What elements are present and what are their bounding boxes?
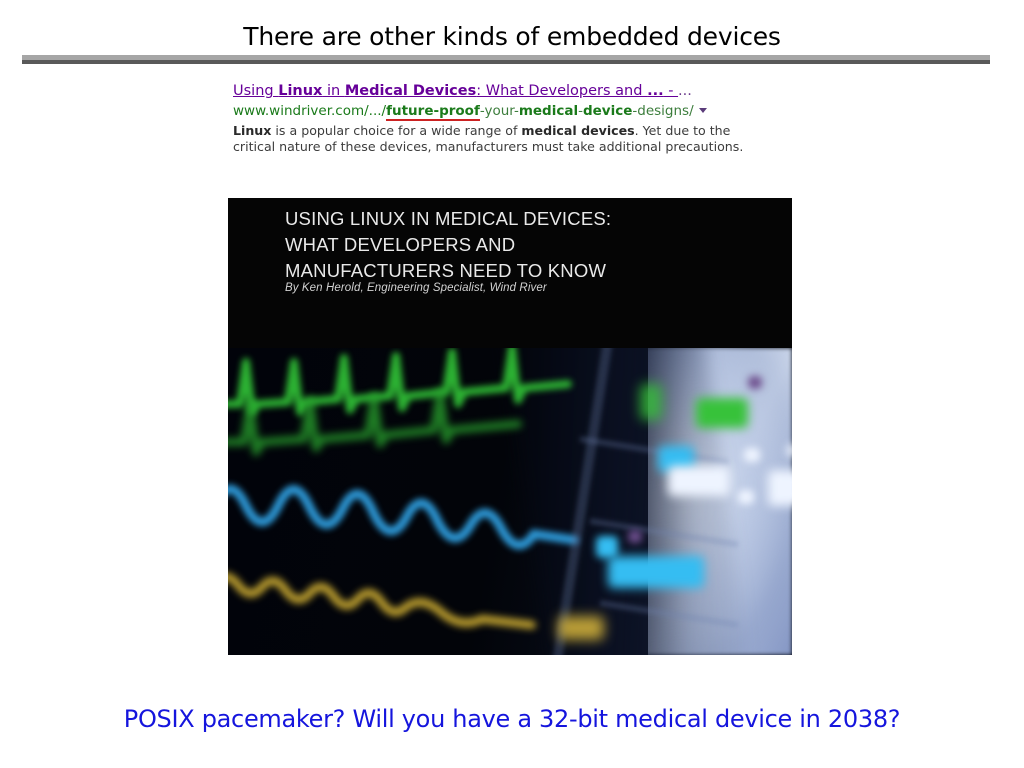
title-divider: [22, 55, 990, 64]
search-result-snippet: Linux is a popular choice for a wide ran…: [233, 123, 745, 155]
search-result-link[interactable]: Using Linux in Medical Devices: What Dev…: [233, 83, 678, 99]
whitepaper-title: USING LINUX IN MEDICAL DEVICES: WHAT DEV…: [285, 206, 765, 284]
readout-dot-3: [786, 444, 792, 457]
whitepaper-title-line-2: WHAT DEVELOPERS AND: [285, 232, 765, 258]
url-keyword-future-proof: future-proof: [386, 103, 480, 121]
readout-dot-1: [744, 448, 760, 462]
readout-nibp-value: [768, 470, 792, 506]
search-result-url[interactable]: www.windriver.com/.../future-proof-your-…: [233, 102, 753, 121]
whitepaper-byline: By Ken Herold, Engineering Specialist, W…: [285, 282, 547, 294]
chevron-down-icon[interactable]: [699, 108, 707, 113]
page-title: There are other kinds of embedded device…: [0, 22, 1024, 51]
whitepaper-image: USING LINUX IN MEDICAL DEVICES: WHAT DEV…: [228, 198, 792, 655]
title-trailing-ellipsis: ...: [678, 83, 692, 99]
slide-caption: POSIX pacemaker? Will you have a 32-bit …: [0, 705, 1024, 733]
title-segment-1: Using: [233, 83, 278, 99]
readout-hr-label: [640, 384, 662, 420]
title-segment-3: : What Developers and: [476, 83, 647, 99]
readout-dot-4: [628, 530, 642, 543]
medical-monitor-photo: [228, 348, 792, 655]
title-keyword-medical-devices: Medical Devices: [345, 83, 476, 99]
snippet-keyword-medical-devices: medical devices: [521, 123, 634, 138]
whitepaper-title-line-3: MANUFACTURERS NEED TO KNOW: [285, 258, 765, 284]
readout-resp-value: [608, 556, 704, 588]
title-keyword-linux: Linux: [278, 83, 322, 99]
divider-bottom-band: [22, 60, 990, 64]
readout-alarm-dot: [748, 376, 762, 389]
readout-heart-rate: [696, 398, 748, 428]
readout-dot-2: [738, 490, 754, 504]
title-segment-2: in: [322, 83, 344, 99]
url-keyword-device: device: [583, 103, 632, 119]
snippet-segment-1: is a popular choice for a wide range of: [271, 123, 521, 138]
url-segment-designs: -designs/: [632, 103, 693, 119]
title-ellipsis: ...: [647, 83, 664, 99]
url-segment-your: -your-: [480, 103, 519, 119]
title-dash: -: [664, 83, 678, 99]
url-keyword-medical: medical: [519, 103, 578, 119]
search-result-title[interactable]: Using Linux in Medical Devices: What Dev…: [233, 82, 753, 101]
whitepaper-title-line-1: USING LINUX IN MEDICAL DEVICES:: [285, 206, 765, 232]
abp-yellow-trace: [228, 563, 612, 653]
search-result: Using Linux in Medical Devices: What Dev…: [233, 82, 753, 155]
url-host: www.windriver.com/.../: [233, 103, 386, 119]
readout-resp-label: [596, 536, 618, 558]
readout-spo2-value: [668, 466, 730, 496]
readout-temp-value: [558, 616, 604, 640]
snippet-keyword-linux: Linux: [233, 123, 271, 138]
whitepaper-header: USING LINUX IN MEDICAL DEVICES: WHAT DEV…: [228, 198, 792, 348]
